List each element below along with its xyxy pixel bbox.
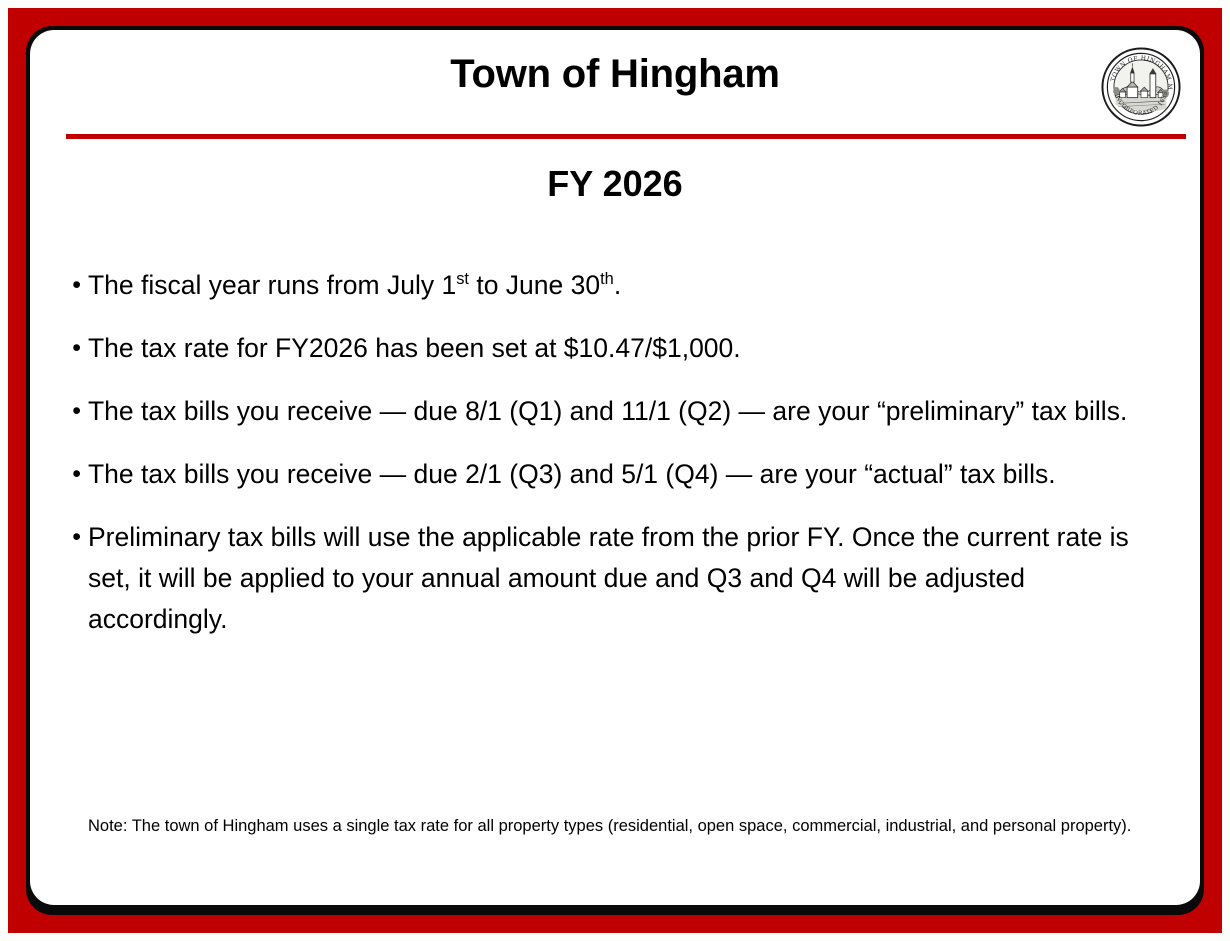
ordinal-suffix-st: st — [456, 270, 469, 288]
bullet-marker-icon: • — [30, 391, 88, 432]
list-item: • The tax rate for FY2026 has been set a… — [30, 328, 1200, 369]
bullet-text-prior-fy-rate: Preliminary tax bills will use the appli… — [88, 517, 1200, 640]
bullet-marker-icon: • — [30, 517, 88, 558]
town-seal-icon: TOWN OF HINGHAM MASS INCORPORATED 1635 — [1100, 46, 1182, 128]
bullet-middle: to June 30 — [469, 270, 600, 300]
list-item: • The tax bills you receive — due 8/1 (Q… — [30, 391, 1200, 432]
bullet-suffix: . — [614, 270, 621, 300]
list-item: • The tax bills you receive — due 2/1 (Q… — [30, 454, 1200, 495]
bullet-text-preliminary-bills: The tax bills you receive — due 8/1 (Q1)… — [88, 391, 1200, 432]
page-title: Town of Hingham — [30, 52, 1200, 97]
slide-root: Town of Hingham — [0, 0, 1230, 941]
slide-header: Town of Hingham — [30, 30, 1200, 130]
list-item: • The fiscal year runs from July 1st to … — [30, 265, 1200, 306]
ordinal-suffix-th: th — [600, 270, 614, 288]
bullet-list: • The fiscal year runs from July 1st to … — [30, 265, 1200, 662]
bullet-prefix: The fiscal year runs from July 1 — [88, 270, 456, 300]
fiscal-year-subtitle: FY 2026 — [30, 163, 1200, 205]
content-card: Town of Hingham — [30, 30, 1200, 905]
header-divider-rule — [66, 134, 1186, 139]
list-item: • Preliminary tax bills will use the app… — [30, 517, 1200, 640]
bullet-text-tax-rate: The tax rate for FY2026 has been set at … — [88, 328, 1200, 369]
bullet-marker-icon: • — [30, 265, 88, 306]
footnote-note: Note: The town of Hingham uses a single … — [88, 813, 1173, 840]
bullet-text-actual-bills: The tax bills you receive — due 2/1 (Q3)… — [88, 454, 1200, 495]
bullet-text-fiscal-year: The fiscal year runs from July 1st to Ju… — [88, 265, 1200, 306]
bullet-marker-icon: • — [30, 454, 88, 495]
bullet-marker-icon: • — [30, 328, 88, 369]
